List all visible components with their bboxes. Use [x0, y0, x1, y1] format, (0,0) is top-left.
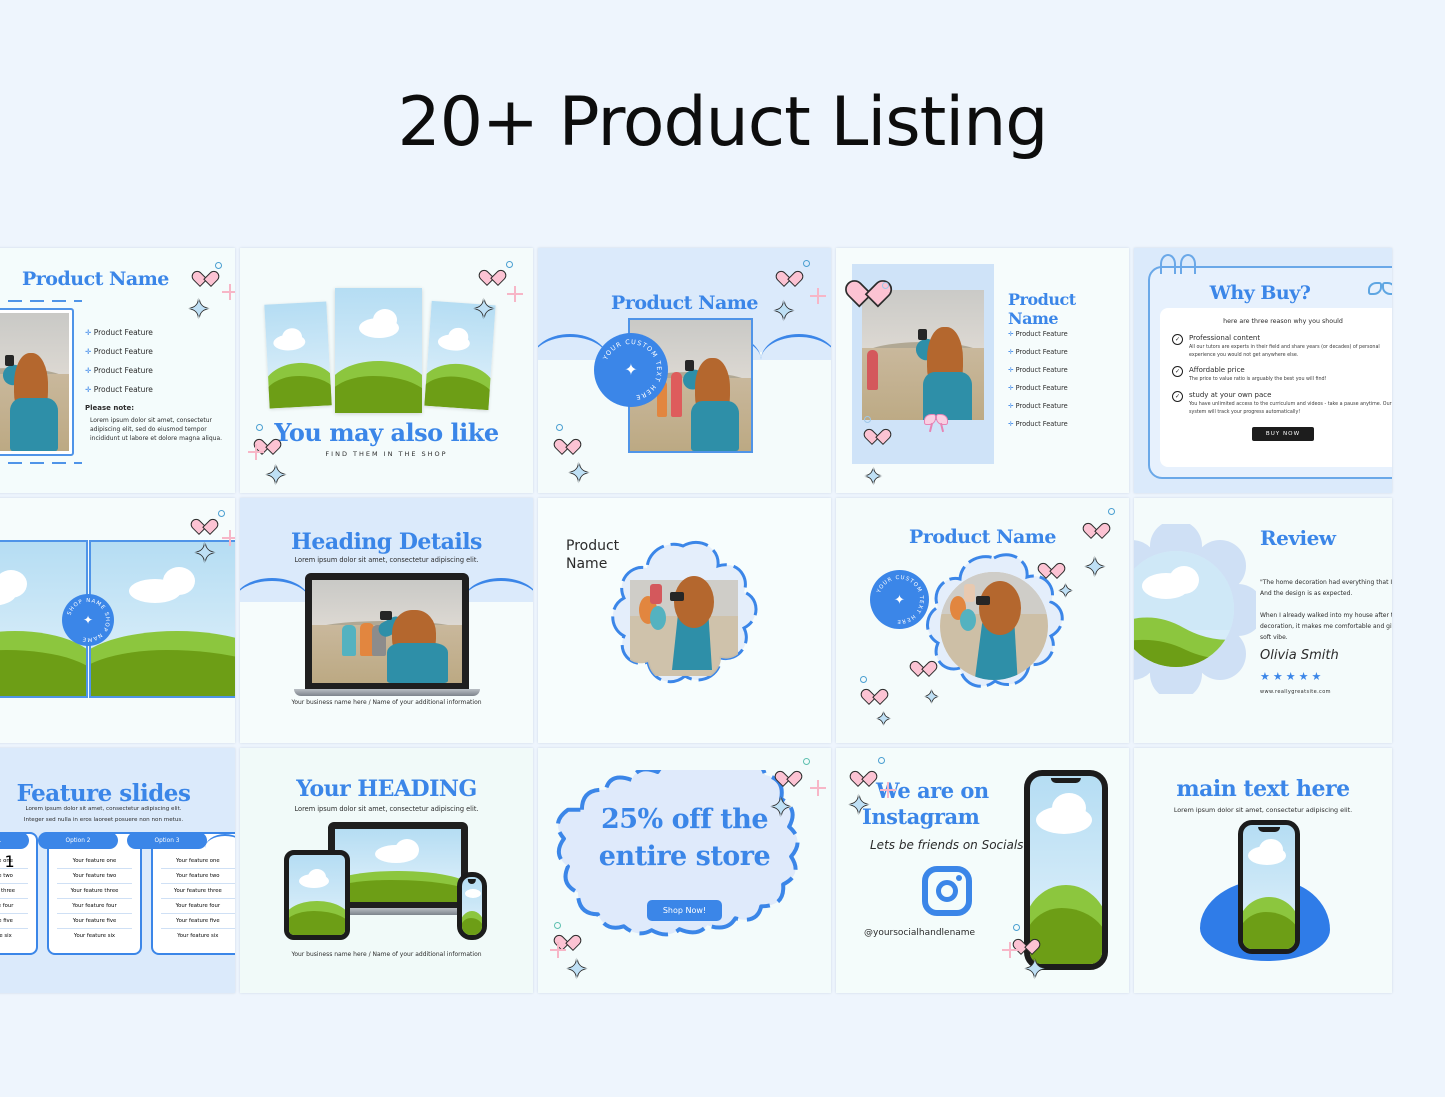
check-circle-icon: ✓: [1172, 334, 1183, 345]
slide-12-subtitle: Lorem ipsum dolor sit amet, consectetur …: [240, 805, 533, 813]
reason-item: ✓ Affordable price The price to value ra…: [1172, 366, 1392, 384]
heart-icon: [784, 272, 799, 286]
list-item: ✛ Product Feature: [85, 366, 153, 375]
slide-1-title: Product Name: [22, 268, 169, 290]
options-row: Option 1 Your feature one Your feature t…: [0, 832, 235, 955]
slide-2-title: You may also like: [240, 418, 533, 447]
check-circle-icon: ✓: [1172, 391, 1183, 402]
reason-heading: study at your own pace: [1189, 391, 1392, 399]
product-photo: [312, 580, 462, 683]
sparkle-icon: ✦: [568, 460, 590, 486]
plus-icon: ✛: [1008, 402, 1014, 410]
landscape-art: [289, 855, 345, 935]
sketch-bracket: [0, 300, 82, 302]
list-item: ✛ Product Feature: [1008, 366, 1068, 374]
list-item: Your feature one: [161, 854, 235, 869]
promo-line-2: entire store: [538, 841, 831, 872]
option-card[interactable]: Your feature one Your feature two Your f…: [151, 832, 235, 955]
slide-12-title: Your HEADING: [240, 776, 533, 802]
heart-icon: [562, 440, 577, 454]
ring-icon: [860, 676, 867, 683]
shop-now-button[interactable]: Shop Now!: [647, 900, 722, 921]
custom-text-badge[interactable]: ✦ YOUR CUSTOM TEXT HERE YOUR CUSTOM TEXT…: [594, 333, 668, 407]
list-item: Your feature five: [0, 914, 28, 929]
white-card: here are three reason why you should ✓ P…: [1160, 308, 1392, 467]
sketch-bracket-bottom: [0, 462, 82, 464]
photo-panel: [852, 264, 994, 464]
reason-item: ✓ Professional content All our tutors ar…: [1172, 334, 1392, 359]
landscape-art: [264, 301, 331, 408]
option-header: Option 1: [0, 852, 15, 871]
check-circle-icon: ✓: [1172, 366, 1183, 377]
plus-icon: ✛: [85, 366, 91, 375]
feature-list: ✛ Product Feature ✛ Product Feature ✛ Pr…: [85, 328, 153, 404]
crosshair-icon: [810, 288, 826, 304]
bow-icon: [1368, 280, 1392, 302]
instagram-icon[interactable]: [922, 866, 972, 916]
slide-11-subtitle-2: Integer sed nulla in eros laoreet posuer…: [0, 817, 235, 823]
plus-icon: ✛: [1008, 348, 1014, 356]
crosshair-icon: [222, 530, 235, 546]
slide-product-name-badge[interactable]: Product Name ✦ YOUR CUSTOM TEXT HERE YOU…: [538, 248, 831, 493]
list-item: ✛ Product Feature: [1008, 348, 1068, 356]
heart-icon: [262, 440, 277, 454]
slide-row-3: Feature slides Lorem ipsum dolor sit ame…: [0, 748, 1445, 993]
sparkle-icon: ✦: [1084, 554, 1106, 580]
instagram-subtitle: Lets be friends on Socials: [870, 838, 1023, 852]
heart-icon: [1046, 564, 1057, 574]
heart-icon: [872, 430, 887, 444]
review-author: Olivia Smith: [1260, 648, 1339, 663]
rating-stars: ★★★★★: [1260, 670, 1324, 683]
wave-edge-bottom: [862, 420, 984, 429]
option-pill-label: Option 2: [66, 838, 91, 844]
laptop-mockup: [305, 573, 469, 689]
phone-mockup: [1238, 820, 1300, 954]
slide-heading-details[interactable]: Heading Details Lorem ipsum dolor sit am…: [240, 498, 533, 743]
ring-icon: [506, 261, 513, 268]
polaroid-left: [264, 301, 331, 408]
ring-icon: [878, 757, 885, 764]
ring-icon: [256, 424, 263, 431]
list-item: Your feature six: [57, 929, 131, 943]
svg-text:YOUR CUSTOM TEXT HERE: YOUR CUSTOM TEXT HERE: [601, 338, 663, 402]
sparkle-icon: ✦: [1058, 582, 1073, 600]
slide-promo-discount[interactable]: 25% off the entire store Shop Now! ✦ ✦: [538, 748, 831, 993]
slide-shop-name-landscape[interactable]: ✦ SHOP NAME SHOP NAME SHOP NAME SHOP NAM…: [0, 498, 235, 743]
sparkle-icon: ✦: [864, 466, 882, 488]
option-card[interactable]: Option 1 Your feature one Your feature t…: [0, 832, 38, 955]
shop-name-badge[interactable]: ✦ SHOP NAME SHOP NAME SHOP NAME SHOP NAM…: [62, 594, 114, 646]
reason-item: ✓ study at your own pace You have unlimi…: [1172, 391, 1392, 416]
heart-icon: [487, 271, 502, 285]
slide-12-footer: Your business name here / Name of your a…: [240, 951, 533, 958]
list-item: Your feature five: [57, 914, 131, 929]
feature-list: ✛ Product Feature ✛ Product Feature ✛ Pr…: [1008, 330, 1068, 428]
list-item: Your feature six: [161, 929, 235, 943]
crosshair-icon: [248, 444, 264, 460]
review-quote-1: "The home decoration had everything that…: [1260, 578, 1392, 600]
option-card[interactable]: Your feature one Your feature two Your f…: [47, 832, 141, 955]
list-item: ✛ Product Feature: [1008, 402, 1068, 410]
custom-text-badge[interactable]: ✦ YOUR CUSTOM TEXT HERE YOUR CUSTOM TEXT…: [870, 570, 929, 629]
landscape-art: [462, 877, 482, 935]
heart-icon: [859, 282, 902, 321]
list-item: Your feature four: [57, 899, 131, 914]
flower-frame: [608, 538, 758, 690]
heart-icon: [199, 520, 214, 534]
heart-icon: [1021, 940, 1036, 954]
badge-arc-text: YOUR CUSTOM TEXT HERE: [594, 333, 668, 407]
slide-product-name-flower[interactable]: Product Name: [538, 498, 831, 743]
slide-15-title: main text here: [1134, 776, 1392, 802]
list-item: ✛ Product Feature: [85, 347, 153, 356]
slide-why-buy[interactable]: Why Buy? here are three reason why you s…: [1134, 248, 1392, 493]
plus-icon: ✛: [1008, 366, 1014, 374]
heart-icon: [918, 662, 933, 676]
product-photo: [0, 313, 69, 451]
crosshair-icon: [550, 942, 566, 958]
reason-heading: Affordable price: [1189, 366, 1327, 374]
ring-icon: [803, 260, 810, 267]
sparkle-icon: ✦: [773, 298, 795, 324]
sparkle-icon: ✦: [924, 688, 939, 706]
slide-5-title: Why Buy?: [1174, 282, 1346, 304]
reason-body: All our tutors are experts in their fiel…: [1189, 344, 1392, 359]
ring-icon: [1108, 508, 1115, 515]
review-quote-2: When I already walked into my house afte…: [1260, 611, 1392, 643]
instagram-line-2: Instagram: [862, 804, 979, 829]
slide-row-2: ✦ SHOP NAME SHOP NAME SHOP NAME SHOP NAM…: [0, 498, 1445, 743]
crosshair-icon: [810, 780, 826, 796]
buy-now-button[interactable]: BUY NOW: [1252, 427, 1314, 441]
list-item: Your feature two: [57, 869, 131, 884]
plus-icon: ✛: [85, 328, 91, 337]
slide-grid: Product Name ✛ Product Feature ✛ Product: [0, 248, 1445, 993]
polaroid-center: [335, 288, 422, 413]
ring-icon: [1013, 924, 1020, 931]
slide-11-title: Feature slides: [0, 780, 235, 807]
ring-icon: [882, 282, 889, 289]
slide-review[interactable]: Review "The home decoration had everythi…: [1134, 498, 1392, 743]
list-item: ✛ Product Feature: [1008, 330, 1068, 338]
list-item: Your feature three: [161, 884, 235, 899]
landscape-art: [335, 288, 422, 413]
ring-icon: [864, 416, 871, 423]
slide-4-title: Product Name: [1008, 290, 1129, 328]
sparkle-icon: ✦: [265, 462, 287, 488]
plus-icon: ✛: [1008, 330, 1014, 338]
heart-icon: [200, 272, 215, 286]
sparkle-icon: ✦: [473, 296, 495, 322]
slide-product-name-features[interactable]: Product Name ✛ Product Feature ✛ Product: [0, 248, 235, 493]
sparkle-icon: ✦: [876, 710, 891, 728]
option-pill-label: Option 1: [0, 838, 1, 844]
ring-icon: [803, 758, 810, 765]
landscape-art: [335, 829, 461, 902]
plus-icon: ✛: [85, 347, 91, 356]
ring-icon: [215, 262, 222, 269]
crosshair-icon: [507, 286, 523, 302]
slide-7-footer: Your business name here / Name of your a…: [240, 699, 533, 706]
list-item: ✛ Product Feature: [1008, 384, 1068, 392]
landscape-art: [1030, 776, 1102, 964]
slide-2-subtitle: FIND THEM IN THE SHOP: [240, 450, 533, 458]
note-label: Please note:: [85, 404, 134, 412]
heart-icon: [869, 690, 884, 704]
slide-your-heading[interactable]: Your HEADING Lorem ipsum dolor sit amet,…: [240, 748, 533, 993]
ring-icon: [218, 510, 225, 517]
crosshair-icon: [880, 782, 896, 798]
slide-7-title: Heading Details: [240, 529, 533, 555]
slide-instagram[interactable]: We are on Instagram Lets be friends on S…: [836, 748, 1129, 993]
list-item: Your feature three: [57, 884, 131, 899]
heart-icon: [1091, 524, 1106, 538]
option-pill[interactable]: Option 3: [127, 832, 207, 849]
slide-you-may-also-like[interactable]: You may also like FIND THEM IN THE SHOP …: [240, 248, 533, 493]
slide-7-subtitle: Lorem ipsum dolor sit amet, consectetur …: [240, 556, 533, 564]
sparkle-icon: ✦: [194, 540, 216, 566]
list-item: Your feature four: [0, 899, 28, 914]
list-item: ✛ Product Feature: [85, 328, 153, 337]
ring-icon: [556, 424, 563, 431]
sparkle-icon: ✦: [770, 794, 792, 820]
why-buy-intro: here are three reason why you should: [1172, 318, 1392, 325]
bow-icon: [924, 412, 950, 432]
slide-11-subtitle-1: Lorem ipsum dolor sit amet, consectetur …: [0, 806, 235, 812]
ring-icon: [554, 922, 561, 929]
heart-icon: [858, 772, 873, 786]
sparkle-icon: ✦: [1024, 956, 1046, 982]
quote-doodle: [1160, 254, 1204, 276]
plus-icon: ✛: [1008, 384, 1014, 392]
heart-icon: [783, 772, 798, 786]
slide-10-title: Review: [1260, 526, 1336, 550]
slide-product-name-flower-badge[interactable]: Product Name: [836, 498, 1129, 743]
sparkle-icon: ✦: [848, 792, 870, 818]
plus-icon: ✛: [85, 385, 91, 394]
slide-row-1: Product Name ✛ Product Feature ✛ Product: [0, 248, 1445, 493]
page-title: 20+ Product Listing: [0, 0, 1445, 162]
crosshair-icon: [222, 284, 235, 300]
list-item: Your feature six: [0, 929, 28, 943]
sparkle-icon: ✦: [188, 296, 210, 322]
slide-feature-slides[interactable]: Feature slides Lorem ipsum dolor sit ame…: [0, 748, 235, 993]
reason-body: You have unlimited access to the curricu…: [1189, 401, 1392, 416]
tablet-mockup: [284, 850, 350, 940]
list-item: Your feature two: [161, 869, 235, 884]
list-item: Your feature two: [0, 869, 28, 884]
reason-heading: Professional content: [1189, 334, 1392, 342]
option-pill-label: Option 3: [155, 838, 180, 844]
list-item: ✛ Product Feature: [1008, 420, 1068, 428]
list-item: Your feature four: [161, 899, 235, 914]
option-pill[interactable]: Option 1: [0, 832, 29, 849]
instagram-handle: @yoursocialhandlename: [864, 928, 975, 938]
list-item: Your feature one: [57, 854, 131, 869]
landscape-art: [1243, 825, 1295, 949]
list-item: ✛ Product Feature: [85, 385, 153, 394]
note-body: Lorem ipsum dolor sit amet, consectetur …: [90, 416, 230, 443]
review-website: www.reallygreatsite.com: [1260, 689, 1331, 695]
plus-icon: ✛: [1008, 420, 1014, 428]
photo-frame: [0, 308, 74, 456]
option-pill[interactable]: Option 2: [38, 832, 118, 849]
list-item: Your feature three: [0, 884, 28, 899]
reason-body: The price to value ratio is arguably the…: [1189, 376, 1327, 384]
crosshair-icon: [1002, 942, 1018, 958]
slide-15-subtitle: Lorem ipsum dolor sit amet, consectetur …: [1134, 806, 1392, 814]
list-item: Your feature five: [161, 914, 235, 929]
phone-mockup: [457, 872, 487, 940]
slide-main-text-here[interactable]: main text here Lorem ipsum dolor sit ame…: [1134, 748, 1392, 993]
slide-product-name-wavy[interactable]: Product Name ✛ Product Feature ✛ Product…: [836, 248, 1129, 493]
flower-landscape: [1134, 524, 1256, 694]
sparkle-icon: ✦: [566, 956, 588, 982]
